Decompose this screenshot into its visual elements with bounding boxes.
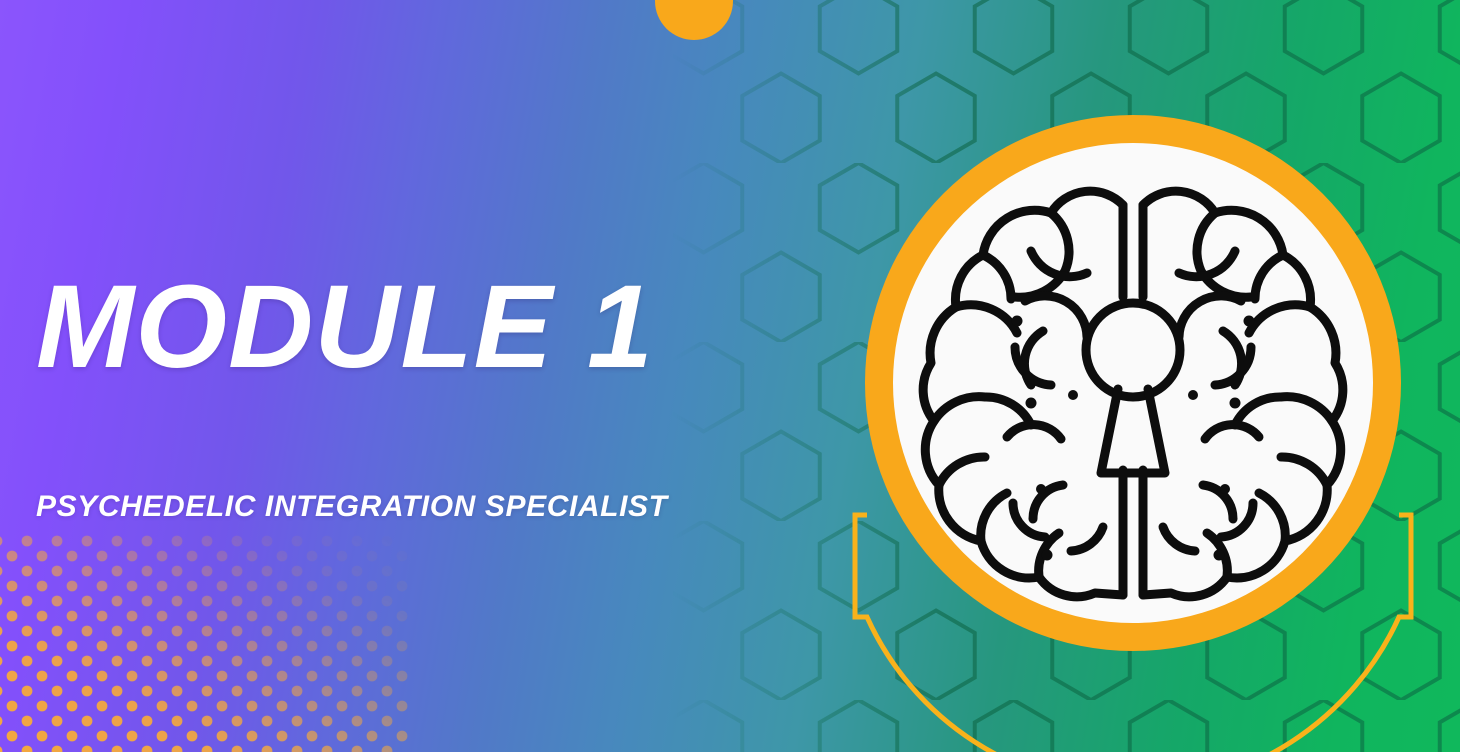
slide-subtitle: PSYCHEDELIC INTEGRATION SPECIALIST bbox=[36, 490, 796, 523]
emblem-disc bbox=[893, 143, 1373, 623]
slide-canvas: MODULE 1 PSYCHEDELIC INTEGRATION SPECIAL… bbox=[0, 0, 1460, 752]
brain-emblem bbox=[835, 85, 1435, 685]
slide-text-block: MODULE 1 PSYCHEDELIC INTEGRATION SPECIAL… bbox=[36, 268, 796, 523]
page-title: MODULE 1 bbox=[36, 268, 796, 386]
